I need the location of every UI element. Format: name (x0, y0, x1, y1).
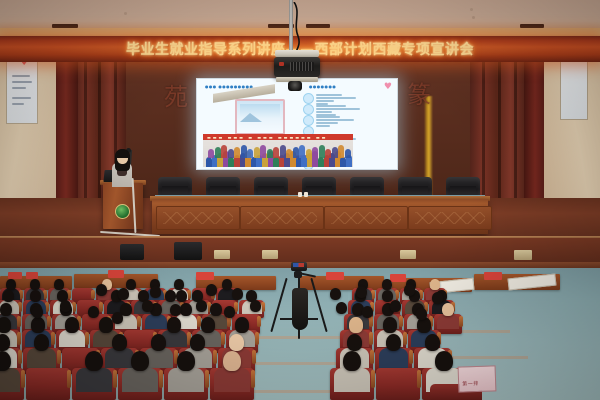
seat-armrest (251, 370, 255, 388)
seat-armrest (57, 350, 61, 364)
audience-member-head (32, 306, 43, 318)
audience-member-head (142, 300, 153, 312)
audience-member-head (176, 290, 187, 302)
audience-member-head (174, 279, 183, 289)
audience-member-head (386, 334, 402, 351)
seat-armrest (47, 316, 51, 327)
seat-armrest (45, 302, 49, 312)
audience-member-body (214, 368, 249, 392)
audience-member-head (435, 351, 453, 372)
audience-member-head (383, 317, 396, 332)
seat-armrest (221, 332, 225, 345)
seat-armrest (459, 316, 463, 327)
audience-member-head (224, 306, 235, 318)
seat-armrest (403, 332, 407, 345)
projector-led-indicator (279, 62, 284, 66)
audience-member-head (60, 300, 71, 312)
seat-armrest (91, 290, 95, 299)
desk-name-card (108, 270, 124, 278)
audience-member-head (65, 317, 78, 332)
seat-armrest (137, 316, 141, 327)
slide-bullet-text-line (316, 111, 332, 113)
audience-member-body (437, 314, 459, 329)
audience-member-head (34, 334, 50, 351)
audience-member-head (170, 304, 181, 316)
audience-member-head (151, 334, 167, 351)
slide-photo-person (280, 145, 286, 158)
seat-armrest (18, 302, 22, 312)
audience-member-head (3, 290, 14, 302)
audience-member-head (196, 300, 207, 312)
audience-member-head (382, 279, 391, 289)
audience-member-head (343, 351, 361, 372)
aisle-stripe (250, 362, 350, 365)
slide-photo-person (306, 149, 312, 158)
audience-member-head (96, 284, 107, 296)
audience-member-head (390, 300, 401, 312)
audience-member-body (59, 330, 85, 347)
aisle-stripe (256, 336, 344, 339)
stage-riser-box (514, 250, 532, 260)
slide-photo-person (293, 147, 299, 158)
slide-photo-person (319, 145, 325, 158)
slide-photo-person (325, 149, 331, 158)
audience-seat (26, 368, 70, 400)
audience-member-head (229, 334, 245, 351)
audience-member-body (334, 368, 369, 392)
audience-member-head (0, 303, 12, 316)
slide-bullet-text-line (316, 94, 342, 96)
row-label-text: 第一排 (462, 380, 479, 388)
desk-name-card (26, 272, 38, 279)
audience-member-head (112, 334, 128, 351)
audience-member-head (349, 317, 362, 332)
audience-member-head (126, 279, 135, 289)
slide-photo-person (234, 147, 240, 158)
audience-member-body (168, 368, 203, 392)
wall-poster-right (560, 56, 588, 120)
stage-riser-box (214, 250, 230, 259)
slide-bullet-text-line (316, 116, 340, 118)
seat-armrest (21, 370, 25, 388)
audience-member-body (76, 368, 111, 392)
slide-photo-person (345, 149, 351, 158)
seat-armrest (17, 332, 21, 345)
audience-member-head (167, 317, 180, 332)
audience-member-head (118, 288, 129, 300)
seat-armrest (99, 302, 103, 312)
slide-group-photo-banner-text: ▬▬▬ ▬▬▬ ▬ ▬▬▬ ▬▬▬▬▬▬ ▬▬ (207, 135, 327, 140)
seat-armrest (18, 350, 22, 364)
slide-photo-person (273, 147, 279, 158)
slide-bullet (303, 104, 393, 113)
audience-member-head (0, 317, 11, 332)
presenter-hair-top (116, 149, 129, 158)
slide-heart-icon: ♥ (384, 82, 392, 92)
slide-bullet-text-line (316, 105, 346, 107)
desk-name-card (196, 272, 214, 280)
head-table-panel (324, 206, 408, 230)
slide-photo-person (312, 147, 318, 158)
slide-bullet-icon (303, 104, 314, 115)
slide-photo-person (221, 145, 227, 158)
table-cup (298, 192, 302, 197)
wall-seal-right: 篆 (406, 78, 432, 112)
slide-photo-person (215, 147, 221, 158)
audience-member-body (0, 368, 20, 392)
seat-armrest (72, 302, 76, 312)
seat-armrest (371, 370, 375, 388)
audience-member-head (177, 351, 195, 372)
slide-bullet (303, 115, 393, 124)
audience-seat (376, 368, 420, 400)
stage-floor-monitor (174, 242, 202, 260)
projector-vent (290, 62, 314, 71)
head-table-panel-inlay (415, 212, 485, 224)
slide-bullet-text-line (316, 108, 360, 110)
video-camera-badge (293, 263, 304, 267)
slide-photo-person (267, 149, 273, 158)
audience-member-head (250, 300, 261, 312)
seat-armrest (369, 332, 373, 345)
audience-member-head (31, 317, 44, 332)
desk-name-card (326, 272, 344, 280)
seat-armrest (255, 332, 259, 345)
audience-member-head (190, 334, 206, 351)
audience-member-head (131, 351, 149, 372)
wall-seal-left: 苑 (163, 80, 189, 114)
audience-member-head (362, 306, 373, 318)
audience-member-head (356, 286, 367, 298)
slide-photo-person (260, 145, 266, 158)
audience-member-head (99, 317, 112, 332)
slide-photo-person (254, 147, 260, 158)
audience-member-head (85, 351, 103, 372)
projection-screen: ●●● ●●●●●●●●● ●●●●●●● ♥ ▬▬▬ ▬▬▬ ▬ ▬▬▬ ▬▬… (196, 78, 398, 170)
audience-member-head (404, 284, 415, 296)
desk-name-card (8, 272, 22, 279)
head-table-panel (408, 206, 492, 230)
wall-poster-left: ♥ (6, 52, 38, 124)
slide-image-frame (235, 99, 285, 135)
slide-bullet-text-line (316, 97, 356, 99)
slide-bullet-text-line (316, 119, 354, 121)
seat-armrest (205, 370, 209, 388)
slide-photo-person (208, 149, 214, 158)
seat-armrest (399, 316, 403, 327)
head-table-panel-inlay (163, 212, 233, 224)
desk-name-card (390, 274, 406, 282)
audience-member-head (430, 279, 439, 289)
audience-member-head (425, 334, 441, 351)
seat-armrest (252, 350, 256, 364)
seat-armrest (409, 350, 413, 364)
audience-member-head (88, 306, 99, 318)
audience-member-head (336, 302, 347, 314)
audience-member-head (6, 279, 15, 289)
slide-bullet-text-line (316, 100, 334, 102)
seat-armrest (257, 316, 261, 327)
seat-armrest (159, 370, 163, 388)
audience-member-head (347, 334, 363, 351)
audience-member-head (223, 351, 241, 372)
stage-floor-monitor (120, 244, 144, 260)
audience-member-head (150, 286, 161, 298)
slide-bullet-icon (303, 93, 314, 104)
slide-photo-person (247, 149, 253, 158)
seat-armrest (370, 350, 374, 364)
audience-member-head (222, 279, 231, 289)
slide-photo-person (338, 145, 344, 158)
auditorium-photo: ♥ 苑 篆 毕业生就业指导系列讲座——西部计划西藏专项宣讲会 ●●● ●●●●●… (0, 0, 600, 400)
stage-riser-box (262, 250, 278, 259)
audience-member-head (206, 284, 217, 296)
audience-member-head (416, 308, 427, 320)
slide-photo-person (241, 145, 247, 158)
desk-name-card (484, 272, 502, 280)
head-table-panel (240, 206, 324, 230)
slide-bullet (303, 93, 393, 102)
slide-photo-person (228, 149, 234, 158)
slide-title-right: ●●●●●●● (309, 84, 336, 89)
podium-emblem-icon (115, 204, 130, 219)
audience-member-head (180, 303, 192, 316)
audience-member-head (330, 288, 341, 300)
head-table-panel (156, 206, 240, 230)
aisle-stripe (448, 356, 528, 359)
ceiling-light (124, 12, 127, 15)
audience-member-head (30, 279, 39, 289)
audience-member-head (30, 290, 41, 302)
seat-armrest (67, 370, 71, 388)
audience-member-head (112, 312, 123, 324)
ceiling-light (470, 8, 473, 11)
seat-armrest (417, 370, 421, 388)
seat-armrest (17, 316, 21, 327)
projector-lens (288, 81, 302, 91)
audience-member-body (145, 314, 167, 329)
ceiling-light (472, 16, 475, 19)
projector-mount-plate (275, 50, 319, 57)
seat-armrest (85, 332, 89, 345)
audience-member-head (54, 279, 63, 289)
projector-cable (292, 2, 302, 52)
audience-member-head (210, 303, 222, 316)
table-cup (304, 192, 308, 197)
slide-group-photo: ▬▬▬ ▬▬▬ ▬ ▬▬▬ ▬▬▬▬▬▬ ▬▬ (203, 134, 353, 167)
audience-member-head (232, 288, 243, 300)
tripod-camera-bag (292, 288, 308, 330)
audience-member-head (165, 290, 176, 302)
audience-member-body (122, 368, 157, 392)
seat-armrest (213, 350, 217, 364)
audience-member-head (442, 303, 454, 316)
slide-photo-person (332, 147, 338, 158)
stage-riser-box (400, 250, 416, 259)
seat-armrest (51, 332, 55, 345)
slide-photo-person (299, 145, 305, 158)
slide-photo-person (286, 149, 292, 158)
head-table-panel-inlay (247, 212, 317, 224)
audience-member-head (235, 317, 248, 332)
slide-bullet-icon (303, 115, 314, 126)
seat-armrest (261, 302, 265, 312)
audience-member-head (432, 292, 443, 304)
seat-armrest (113, 370, 117, 388)
head-table-panel-inlay (331, 212, 401, 224)
slide-bullet-text-line (316, 122, 338, 124)
audience-member-head (201, 317, 214, 332)
row-label-sign: 第一排 (458, 365, 497, 392)
